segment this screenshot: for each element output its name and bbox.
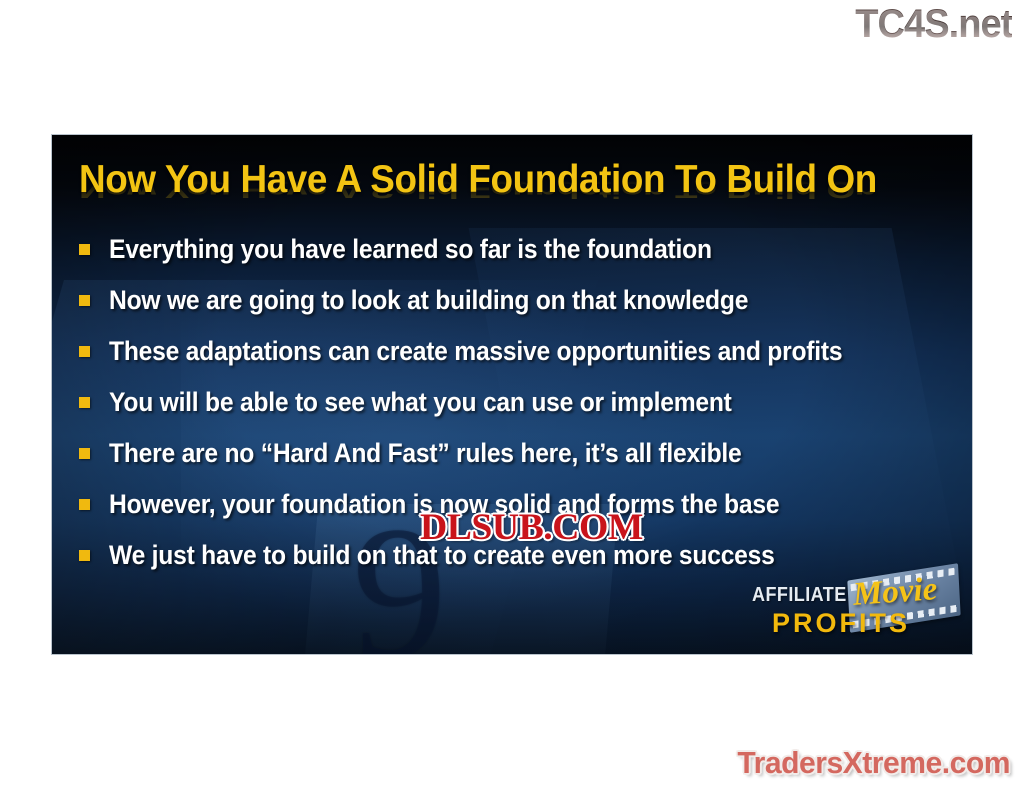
square-bullet-icon <box>79 550 90 561</box>
list-item-label: Everything you have learned so far is th… <box>109 231 712 267</box>
square-bullet-icon <box>79 448 90 459</box>
watermark-dlsub: DLSUB.COM <box>420 506 643 549</box>
list-item: Everything you have learned so far is th… <box>79 231 962 282</box>
slide-title: Now You Have A Solid Foundation To Build… <box>79 159 911 201</box>
list-item: Now we are going to look at building on … <box>79 282 962 333</box>
watermark-tradersxtreme: TradersXtreme.com <box>737 745 1010 781</box>
list-item-label: These adaptations can create massive opp… <box>109 333 842 369</box>
logo-word-profits: PROFITS <box>772 608 910 639</box>
logo-top-row: AFFILIATE Movie <box>750 580 960 610</box>
list-item: These adaptations can create massive opp… <box>79 333 962 384</box>
square-bullet-icon <box>79 295 90 306</box>
square-bullet-icon <box>79 499 90 510</box>
square-bullet-icon <box>79 346 90 357</box>
list-item-label: There are no “Hard And Fast” rules here,… <box>109 435 742 471</box>
watermark-tc4s: TC4S.net <box>855 2 1012 47</box>
square-bullet-icon <box>79 244 90 255</box>
list-item-label: You will be able to see what you can use… <box>109 384 732 420</box>
affiliate-movie-profits-logo: AFFILIATE Movie PROFITS <box>750 570 960 644</box>
list-item: You will be able to see what you can use… <box>79 384 962 435</box>
logo-word-affiliate: AFFILIATE <box>752 584 847 607</box>
square-bullet-icon <box>79 397 90 408</box>
presentation-slide: 9 Now You Have A Solid Foundation To Bui… <box>51 134 973 655</box>
list-item-label: Now we are going to look at building on … <box>109 282 748 318</box>
list-item: There are no “Hard And Fast” rules here,… <box>79 435 962 486</box>
